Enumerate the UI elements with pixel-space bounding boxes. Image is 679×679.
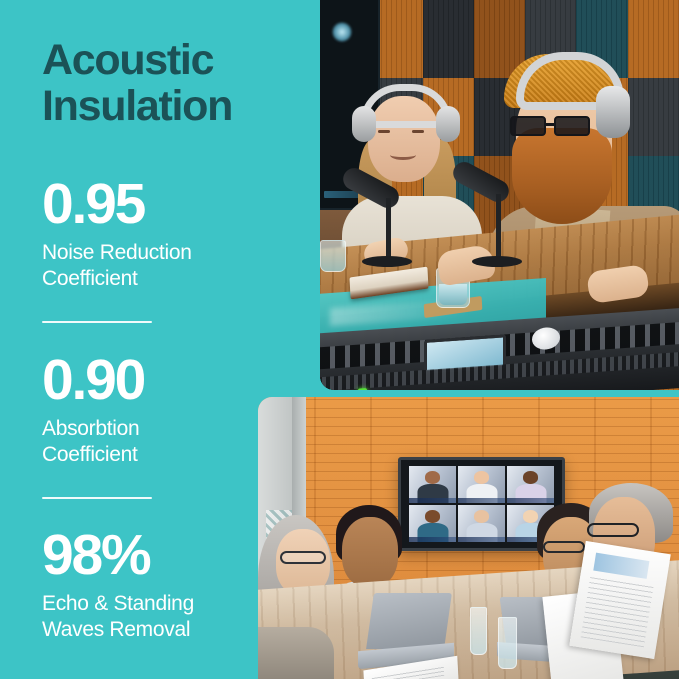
studio-scene	[320, 0, 679, 390]
man-headphone-cup	[596, 86, 630, 138]
laptop-left	[358, 593, 450, 667]
video-participant-tile	[458, 505, 505, 542]
photo-podcast-studio	[320, 0, 679, 390]
stat-value: 98%	[42, 527, 312, 584]
photo-conference-room	[258, 397, 679, 679]
meeting-water-glass-right	[498, 617, 517, 669]
stat-label-line-1: Absorbtion	[42, 417, 139, 440]
woman-eye-left	[378, 130, 390, 133]
stat-label-line-2: Coefficient	[42, 442, 312, 468]
left-content-panel: Acoustic Insulation 0.95 Noise Reduction…	[0, 0, 320, 679]
stat-label-line-2: Waves Removal	[42, 617, 312, 643]
page-title: Acoustic Insulation	[42, 37, 310, 129]
stat-divider-2	[42, 497, 152, 499]
video-participant-tile	[507, 466, 554, 503]
page-title-line-2: Insulation	[42, 83, 310, 129]
monitor-glow	[332, 22, 352, 42]
stat-value: 0.90	[42, 352, 312, 409]
stat-value: 0.95	[42, 176, 312, 233]
attendee-eyeglasses	[587, 523, 639, 537]
stat-noise-reduction-coefficient: 0.95 Noise Reduction Coefficient	[42, 176, 312, 292]
video-participant-tile	[409, 466, 456, 503]
meeting-scene	[258, 397, 679, 679]
woman-eye-right	[412, 130, 424, 133]
video-participant-tile	[458, 466, 505, 503]
stat-divider-1	[42, 321, 152, 323]
man-eyeglasses	[510, 116, 592, 136]
stat-label-line-2: Coefficient	[42, 266, 312, 292]
stat-label-line-1: Noise Reduction	[42, 241, 192, 264]
water-glass-left	[320, 240, 346, 272]
meeting-water-glass-left	[470, 607, 487, 655]
poster-canvas: Acoustic Insulation 0.95 Noise Reduction…	[0, 0, 679, 679]
stat-absorbtion-coefficient: 0.90 Absorbtion Coefficient	[42, 352, 312, 468]
stat-echo-standing-waves-removal: 98% Echo & Standing Waves Removal	[42, 527, 312, 643]
man-beard	[512, 128, 612, 224]
woman-headphone-cup-right	[436, 106, 460, 142]
stat-label: Echo & Standing Waves Removal	[42, 591, 312, 643]
stat-label: Noise Reduction Coefficient	[42, 240, 312, 292]
stat-label: Absorbtion Coefficient	[42, 416, 312, 468]
stat-label-line-1: Echo & Standing	[42, 592, 194, 615]
woman-smile	[390, 150, 416, 160]
console-led-indicator	[358, 388, 367, 390]
handout-with-chart	[569, 541, 671, 659]
woman-headphone-cup-left	[352, 106, 376, 142]
page-title-line-1: Acoustic	[42, 36, 213, 84]
